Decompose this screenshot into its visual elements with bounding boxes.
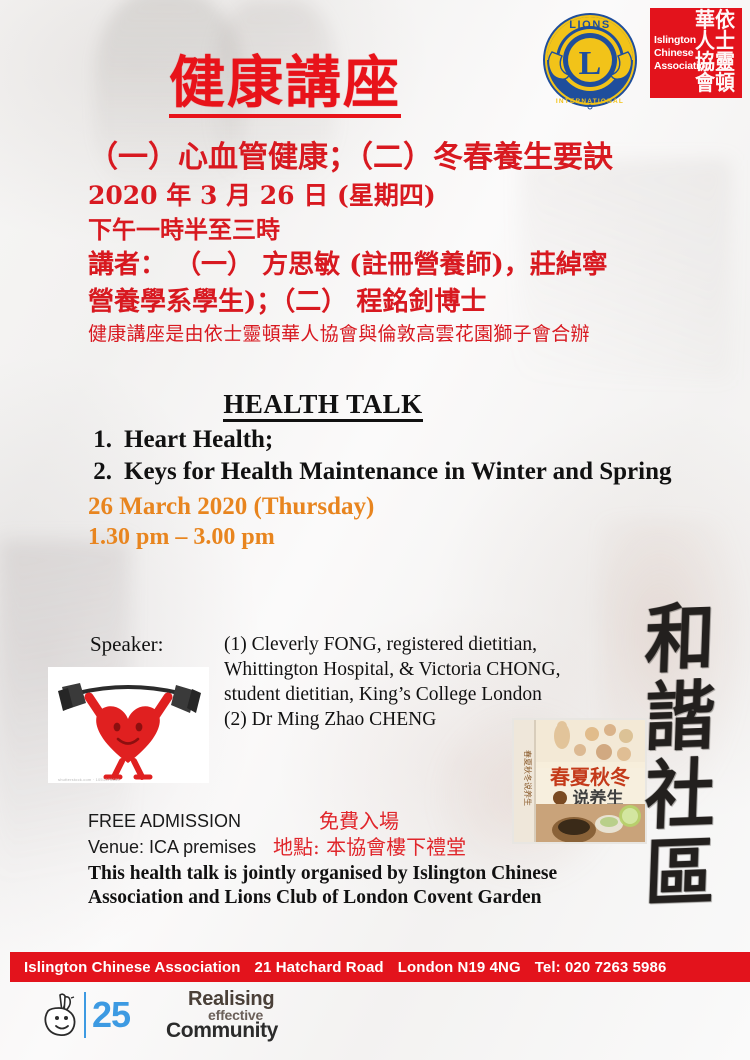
realising-effective-community-logo: Realising effective Community	[166, 988, 341, 1042]
english-heading-text: HEALTH TALK	[223, 389, 422, 422]
speaker-line-1: (1) Cleverly FONG, registered dietitian,	[224, 632, 624, 657]
list-item-text: Heart Health;	[124, 424, 273, 456]
list-item: 2. Keys for Health Maintenance in Winter…	[88, 456, 688, 488]
lottery-divider	[84, 992, 86, 1038]
free-admission-en: FREE ADMISSION	[88, 808, 273, 834]
calligraphy-char-1: 和	[624, 596, 735, 682]
national-lottery-logo: 25	[40, 991, 130, 1039]
lottery-25-text: 25	[92, 997, 130, 1033]
footer-tel: Tel: 020 7263 5986	[521, 959, 667, 976]
jointly-organised-note: This health talk is jointly organised by…	[88, 862, 648, 910]
calligraphy-char-3: 社	[624, 752, 735, 838]
title-text: 健康講座	[169, 54, 401, 118]
speaker-line-2: Whittington Hospital, & Victoria CHONG,	[224, 657, 624, 682]
chinese-speaker-line-1: 講者： （一） 方思敏 (註冊營養師)，莊綽寧	[88, 247, 688, 284]
calligraphy-char-4: 區	[624, 830, 735, 916]
book-title-main: 春夏秋冬	[549, 765, 630, 789]
english-content-block: HEALTH TALK 1. Heart Health; 2. Keys for…	[88, 388, 688, 552]
english-time: 1.30 pm – 3.00 pm	[88, 522, 688, 552]
english-topic-list: 1. Heart Health; 2. Keys for Health Main…	[88, 424, 688, 488]
chinese-date: 2020 年 3 月 26 日 (星期四)	[88, 178, 688, 213]
chinese-content-block: （一）心血管健康；（二）冬春養生要訣 2020 年 3 月 26 日 (星期四)…	[88, 138, 688, 347]
english-heading: HEALTH TALK	[88, 388, 688, 420]
list-item: 1. Heart Health;	[88, 424, 688, 456]
list-item-number: 1.	[88, 424, 112, 456]
jointly-line-2: Association and Lions Club of London Cov…	[88, 886, 648, 910]
lions-top-text: LIONS	[569, 19, 611, 31]
crossed-fingers-icon	[40, 991, 82, 1039]
english-date: 26 March 2020 (Thursday)	[88, 491, 688, 522]
heart-weightlifter-image: shutterstock.com · 1051370635	[48, 667, 209, 783]
speaker-details: (1) Cleverly FONG, registered dietitian,…	[224, 632, 624, 732]
chinese-organiser-note: 健康講座是由依士靈頓華人協會與倫敦高雲花園獅子會合辦	[88, 321, 688, 347]
chinese-subtitle: （一）心血管健康；（二）冬春養生要訣	[88, 138, 688, 178]
jointly-line-1: This health talk is jointly organised by…	[88, 862, 648, 886]
admission-block: FREE ADMISSION 免費入場 Venue: ICA premises …	[88, 808, 648, 860]
poster-canvas: L LIONS INTERNATIONAL Islington Chinese …	[0, 0, 750, 1060]
free-admission-cn: 免費入場	[273, 808, 399, 834]
image-watermark: shutterstock.com · 1051370635	[58, 777, 120, 782]
speaker-label: Speaker:	[90, 632, 163, 657]
list-item-number: 2.	[88, 456, 112, 488]
speaker-line-3: student dietitian, King’s College London	[224, 682, 624, 707]
chinese-time: 下午一時半至三時	[88, 213, 688, 247]
venue-cn: 地點: 本協會樓下禮堂	[273, 834, 466, 860]
calligraphy-char-2: 諧	[624, 674, 735, 760]
free-admission-row: FREE ADMISSION 免費入場	[88, 808, 648, 834]
venue-row: Venue: ICA premises 地點: 本協會樓下禮堂	[88, 834, 648, 860]
poster-title: 健康講座	[0, 54, 750, 118]
venue-en: Venue: ICA premises	[88, 834, 273, 860]
footer-contact-bar: Islington Chinese Association 21 Hatchar…	[10, 952, 750, 982]
footer-org: Islington Chinese Association	[10, 959, 241, 976]
list-item-text: Keys for Health Maintenance in Winter an…	[124, 456, 672, 488]
footer-city: London N19 4NG	[384, 959, 521, 976]
footer-address: 21 Hatchard Road	[241, 959, 384, 976]
book-spine-text: 春夏秋冬说养生	[523, 750, 533, 806]
footer-logo-group: 25 Realising effective Community	[40, 988, 341, 1042]
chinese-speaker-line-2: 營養學系學生)；（二） 程銘釗博士	[88, 284, 688, 321]
realising-word-3: Community	[166, 1019, 278, 1043]
calligraphy-vertical-text: 和 諧 社 區	[626, 600, 734, 912]
